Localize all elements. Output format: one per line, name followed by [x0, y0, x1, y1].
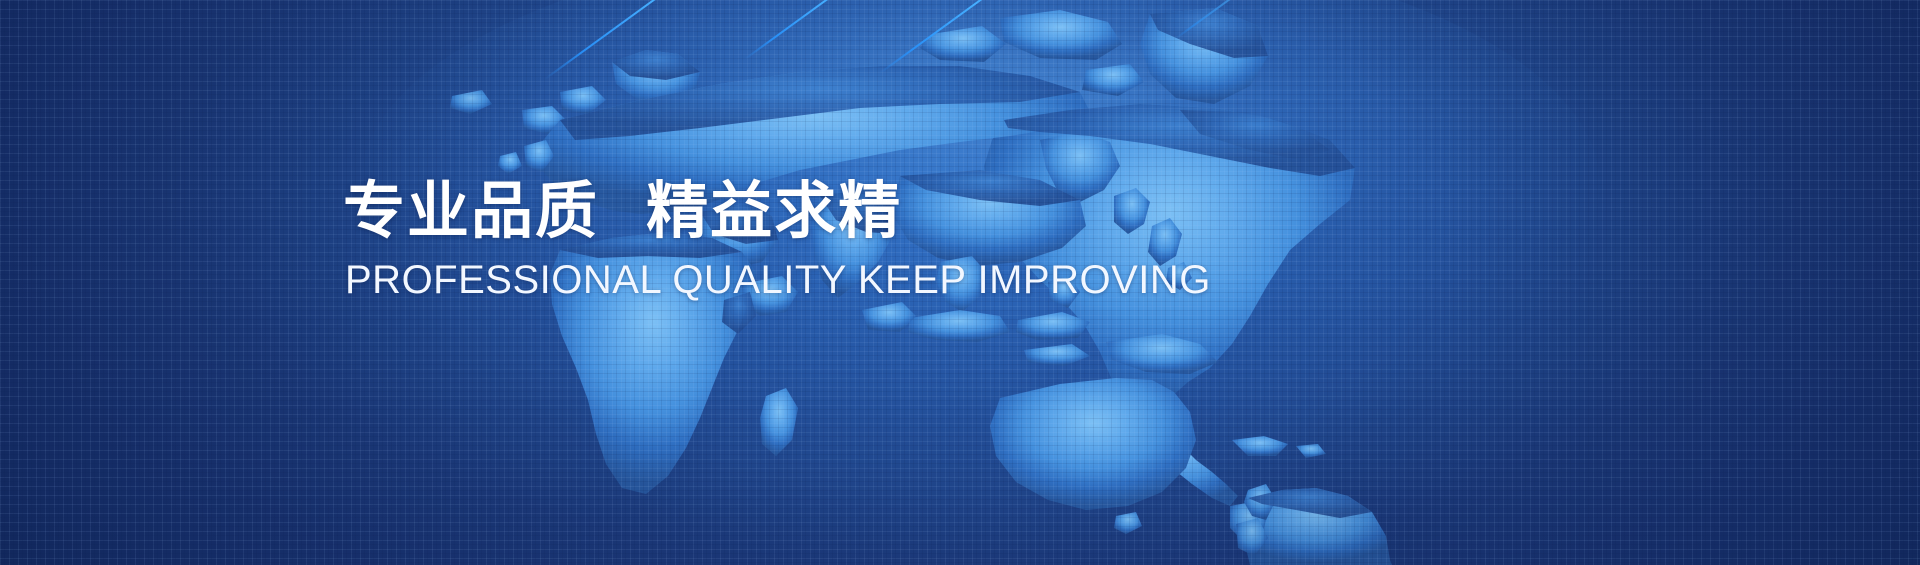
hero-banner: 专业品质 精益求精 PROFESSIONAL QUALITY KEEP IMPR… — [0, 0, 1920, 565]
headline-chinese: 专业品质 精益求精 — [343, 178, 1443, 244]
headline-english: PROFESSIONAL QUALITY KEEP IMPROVING — [345, 258, 1443, 302]
slogan-block: 专业品质 精益求精 PROFESSIONAL QUALITY KEEP IMPR… — [343, 178, 1443, 302]
